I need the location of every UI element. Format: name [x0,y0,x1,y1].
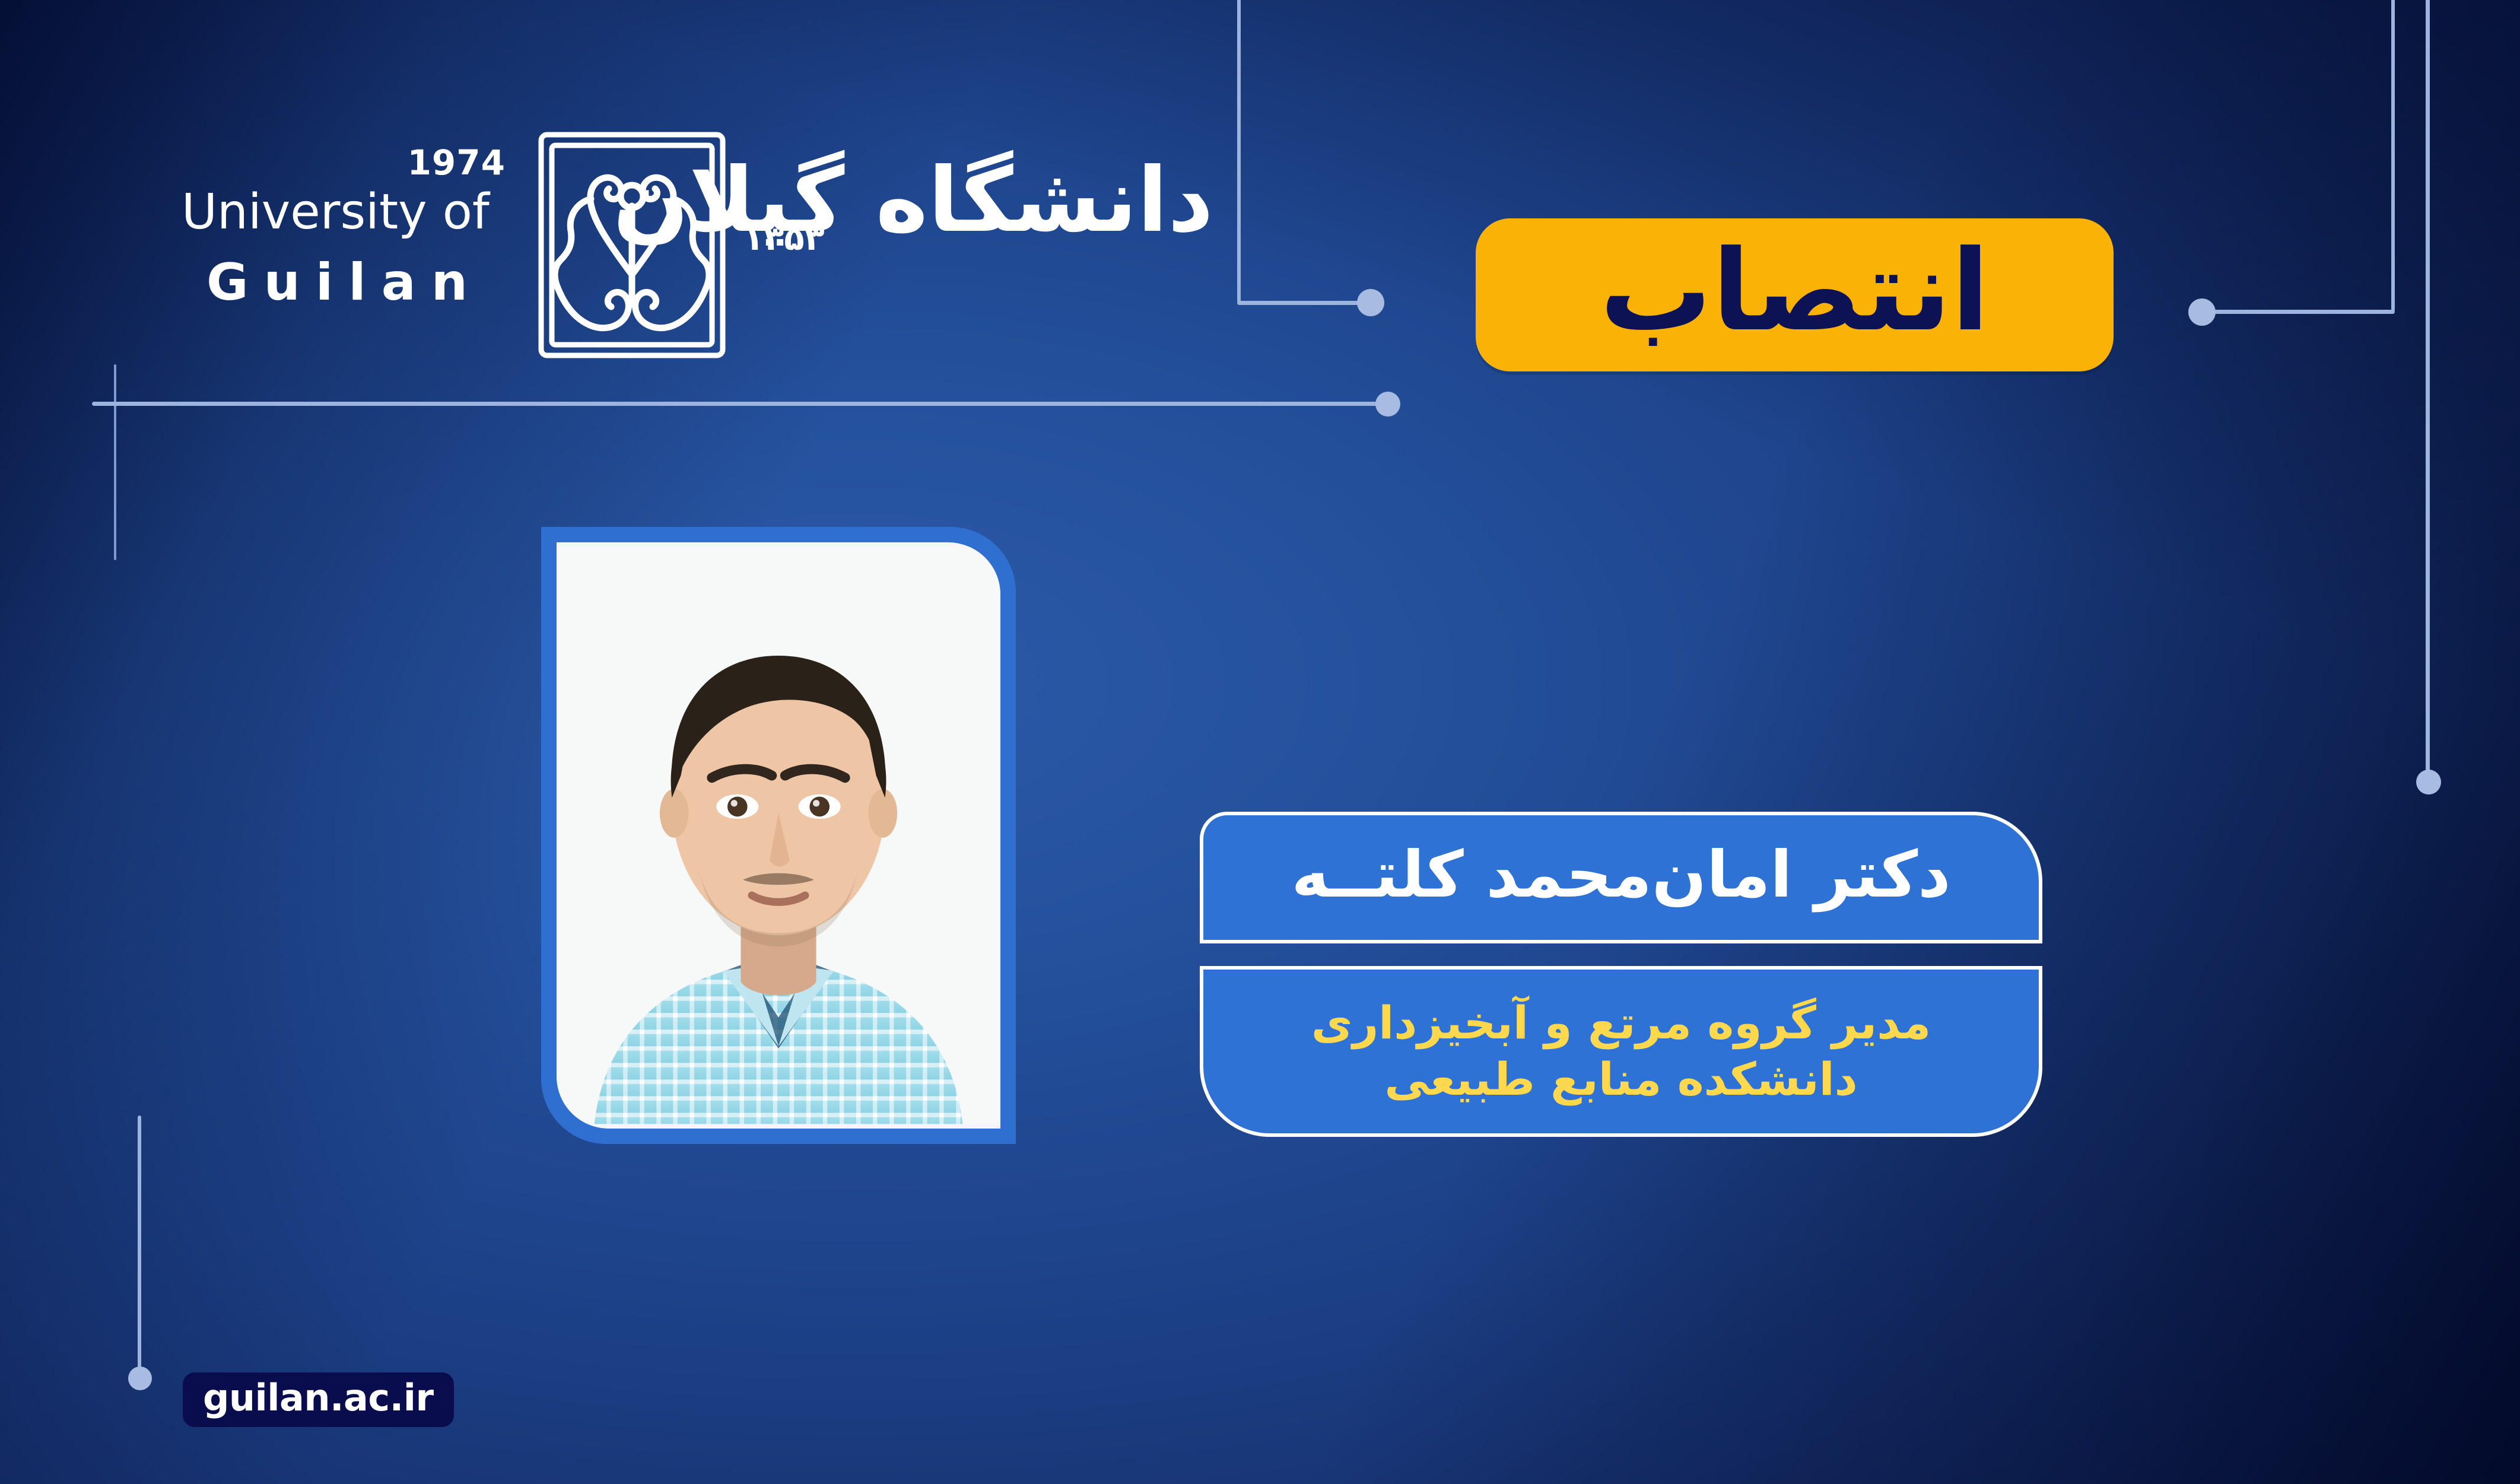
headline-badge: انتصاب [1476,218,2114,371]
person-name: دکتر امان‌محمد کلتــه [1291,843,1950,907]
deco-vertical-line-right-top [2391,0,2395,312]
deco-vertical-line-far-right [2426,0,2430,771]
logo-guilan-word: Guilan [206,257,483,308]
university-logo: 1974 University of Guilan [178,145,1222,383]
deco-horizontal-line-middle-top [1237,301,1380,305]
logo-founding-year-persian: ۱۳۵۳ [743,223,825,256]
portrait-photo [557,542,1000,1129]
deco-dot-under-logo [1375,392,1400,417]
website-badge[interactable]: guilan.ac.ir [183,1372,454,1427]
portrait-frame [541,527,1016,1144]
announcement-banner: 1974 University of Guilan [0,0,2520,1484]
deco-dot-right-top [2188,298,2216,326]
person-title-line-2: دانشکده منابع طبیعی [1384,1052,1857,1107]
website-url: guilan.ac.ir [203,1380,434,1416]
deco-dot-bottom-left [128,1367,152,1390]
deco-horizontal-line-right-top [2206,310,2395,314]
headline-label: انتصاب [1600,236,1990,347]
logo-university-name-persian: دانشگاه گیلان [613,145,1213,257]
deco-vertical-line-bottom-left [138,1116,141,1371]
logo-founding-year-gregorian: 1974 [408,145,506,180]
logo-persian-lockup: دانشگاه گیلان ۱۳۵۳ [733,128,1219,377]
logo-university-word: University of [182,188,490,237]
deco-dot-far-right [2416,770,2441,795]
deco-vertical-line-middle-top [1237,0,1241,303]
deco-vertical-line-left-top [114,364,116,560]
deco-dot-middle-top [1357,289,1384,316]
person-title-card: مدیر گروه مرتع و آبخیزداری دانشکده منابع… [1200,966,2042,1137]
person-name-card: دکتر امان‌محمد کلتــه [1200,812,2042,943]
person-title-line-1: مدیر گروه مرتع و آبخیزداری [1311,996,1931,1051]
deco-horizontal-line-under-logo [92,402,1385,406]
